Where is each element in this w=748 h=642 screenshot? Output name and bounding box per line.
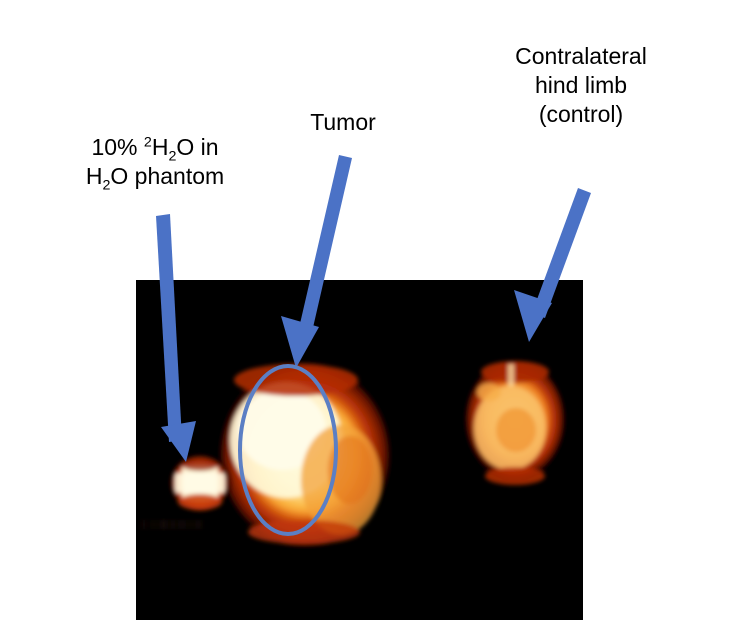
scan-heatmap (136, 280, 583, 620)
deuterium-superscript: 2 (144, 134, 152, 150)
annotated-scan-figure: 10% 2H2O in H2O phantom Tumor Contralate… (0, 0, 748, 642)
tumor-label-text: Tumor (248, 108, 438, 137)
control-label-line1: Contralateral (462, 42, 700, 71)
control-label-line2: hind limb (462, 71, 700, 100)
control-label: Contralateral hind limb (control) (462, 42, 700, 129)
phantom-label-line1: 10% 2H2O in (40, 133, 270, 162)
h2o-subscript-2: 2 (102, 178, 110, 194)
phantom-label: 10% 2H2O in H2O phantom (40, 133, 270, 191)
control-label-line3: (control) (462, 100, 700, 129)
phantom-label-line2: H2O phantom (40, 162, 270, 191)
scan-image-panel (136, 280, 583, 620)
tumor-hotspot (219, 363, 391, 547)
phantom-hotspot (170, 455, 230, 511)
tumor-label: Tumor (248, 108, 438, 137)
